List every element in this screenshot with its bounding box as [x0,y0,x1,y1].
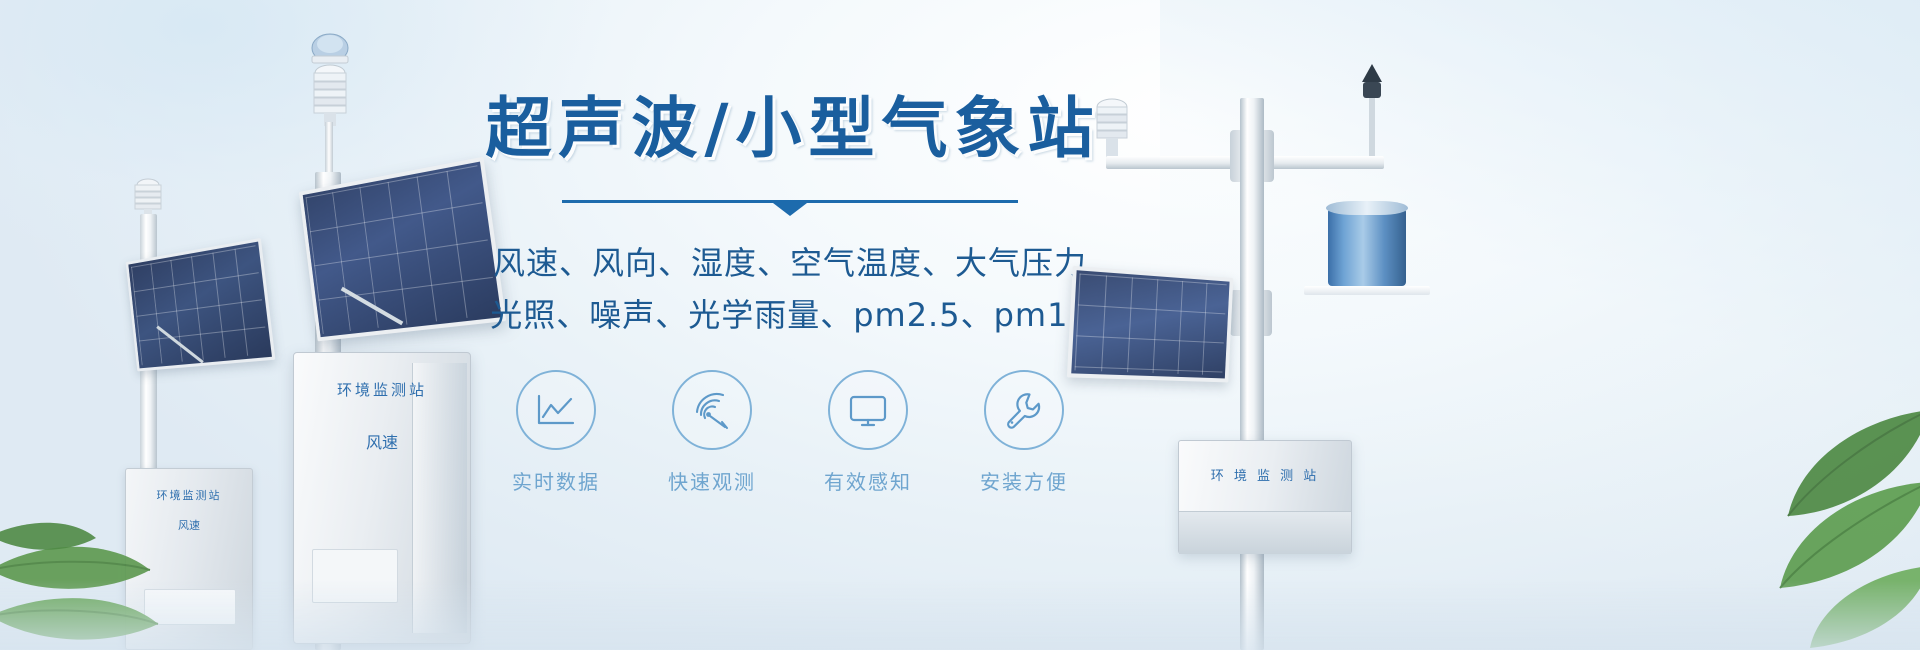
product-banner: 环境监测站 风速 [0,0,1920,650]
wrench-icon [1003,390,1045,430]
solar-panel [126,238,276,372]
solar-cell-grid [1074,274,1226,376]
divider-arrow-icon [773,203,807,216]
subtitle-line-1: 风速、风向、湿度、空气温度、大气压力 [440,238,1140,290]
feature-item-realtime-data[interactable]: 实时数据 [497,370,615,495]
leaf-decoration-left [0,420,230,650]
subtitle-line-2: 光照、噪声、光学雨量、pm2.5、pm10 [440,290,1140,342]
rain-gauge-cap [1326,201,1408,215]
feature-item-effective-sensing[interactable]: 有效感知 [809,370,927,495]
subtitle-block: 风速、风向、湿度、空气温度、大气压力 光照、噪声、光学雨量、pm2.5、pm10 [440,238,1140,342]
ultrasonic-sensor-icon [301,64,359,126]
cabinet-label: 环境监测站 [304,379,460,400]
mounting-pole [1240,98,1264,650]
feature-icon-circle [672,370,752,450]
feature-icon-circle [516,370,596,450]
cabinet-lid [1179,511,1351,554]
feature-label: 实时数据 [512,466,600,495]
leaf-decoration-right [1620,390,1920,650]
ultrasonic-sensor-icon [1084,98,1140,160]
line-chart-icon [535,392,577,428]
signal-wave-icon [691,390,733,430]
brand-label: 风速 [304,429,460,453]
title-divider [562,200,1018,214]
banner-content: 超声波/小型气象站 风速、风向、湿度、空气温度、大气压力 光照、噪声、光学雨量、… [440,96,1140,566]
optical-rain-gauge [1328,208,1406,298]
feature-list: 实时数据 快速观测 [440,370,1140,495]
radar-sensor-icon [1352,60,1392,160]
optical-dome-icon [307,30,353,64]
rain-gauge-base-plate [1304,286,1430,295]
cabinet-vent [312,549,398,603]
solar-cell-grid [131,245,268,365]
monitor-icon [847,392,889,428]
weather-station-right: 环 境 监 测 站 [1060,40,1500,650]
rain-gauge-cylinder [1328,208,1406,286]
feature-label: 快速观测 [668,466,756,495]
feature-icon-circle [828,370,908,450]
feature-label: 安装方便 [980,466,1068,495]
solar-panel [1067,266,1234,383]
feature-label: 有效感知 [824,466,912,495]
page-title: 超声波/小型气象站 [440,96,1140,162]
feature-icon-circle [984,370,1064,450]
feature-item-fast-observation[interactable]: 快速观测 [653,370,771,495]
equipment-cabinet: 环 境 监 测 站 [1178,440,1352,554]
cabinet-label: 环 境 监 测 站 [1187,465,1343,484]
